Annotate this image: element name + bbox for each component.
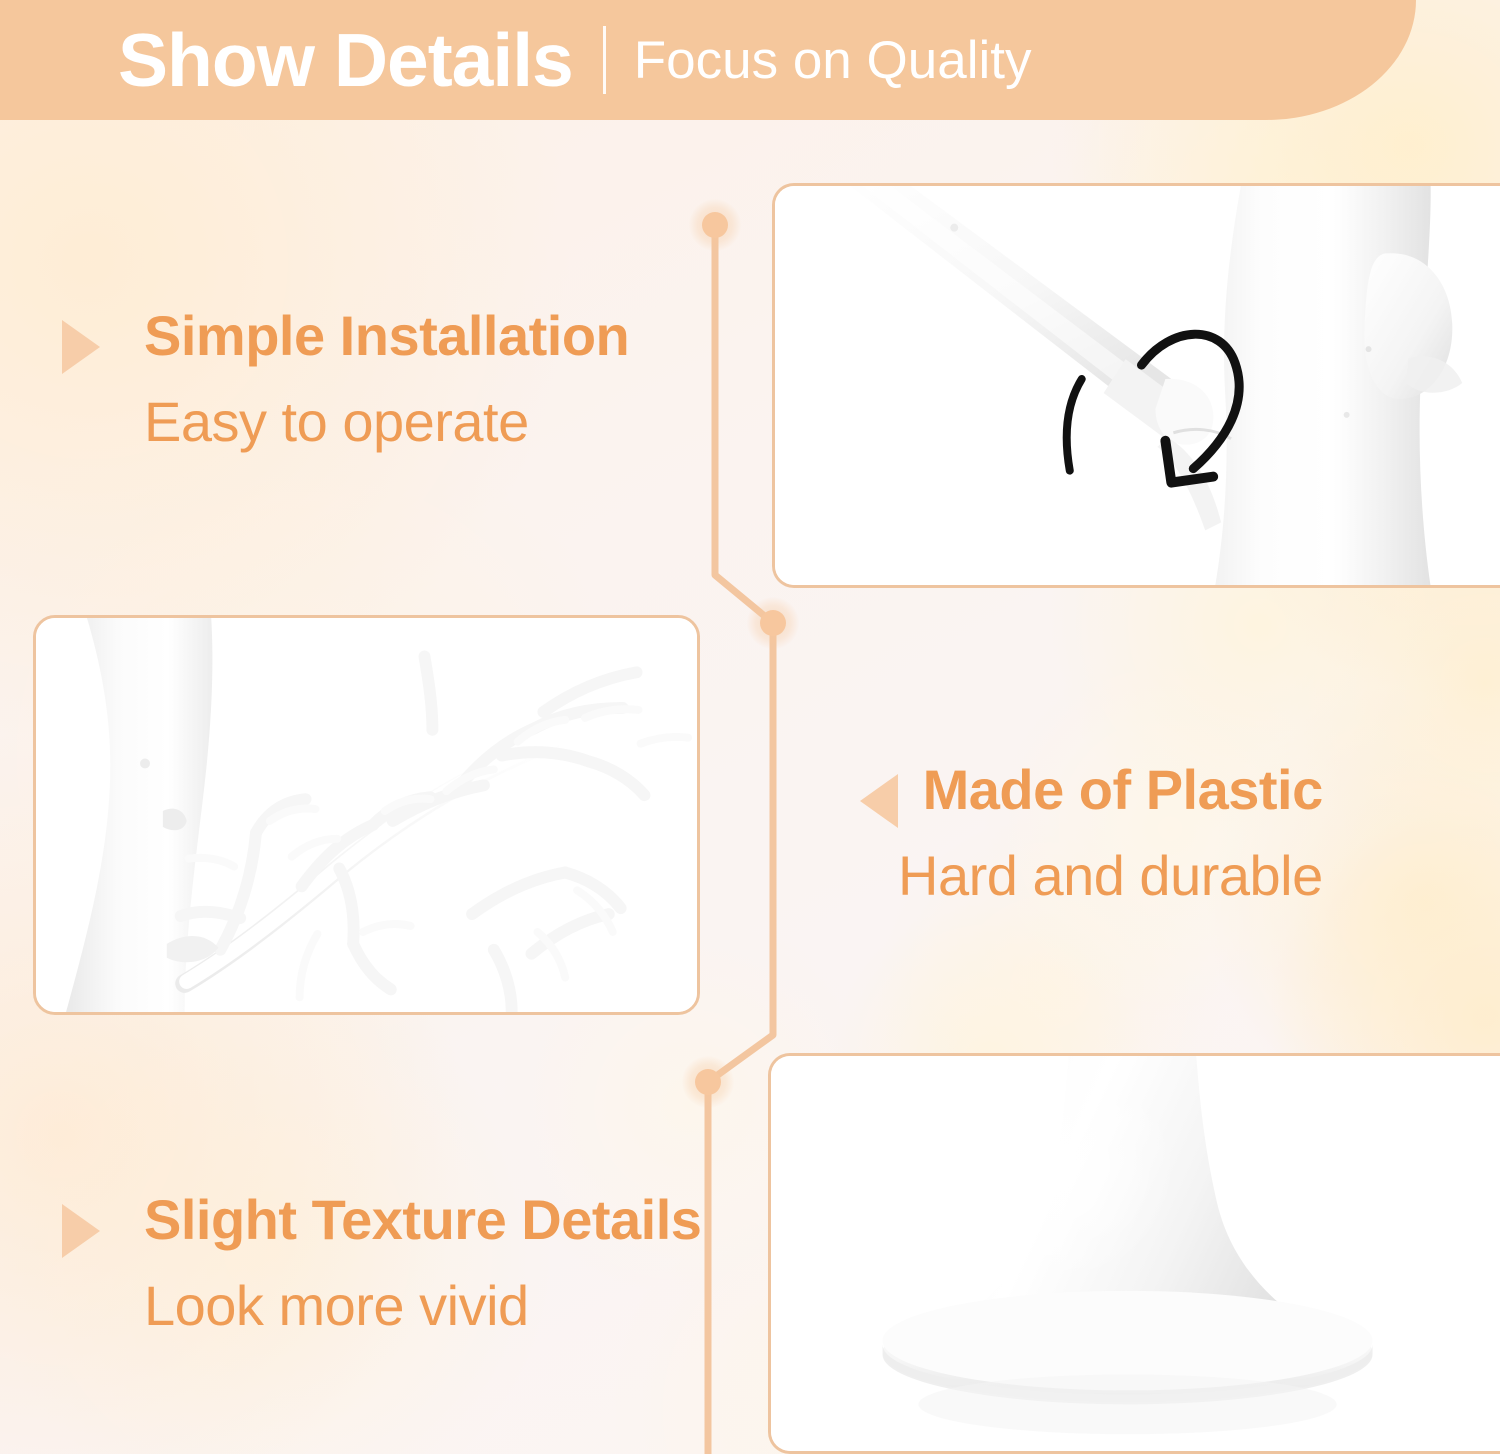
feature-line-1: Made of Plastic <box>923 762 1323 818</box>
feature-line-2: Easy to operate <box>144 394 529 450</box>
feature-text: Slight Texture Details Look more vivid <box>144 1192 701 1334</box>
infographic-page: Show Details Focus on Quality <box>0 0 1500 1454</box>
node-core <box>695 1069 721 1095</box>
feature-made-of-plastic: Made of Plastic Hard and durable <box>860 762 1367 904</box>
feature-simple-installation: Simple Installation Easy to operate <box>62 308 629 450</box>
feature-text: Simple Installation Easy to operate <box>144 308 629 450</box>
feature-line-1: Simple Installation <box>144 308 629 364</box>
header-subtitle: Focus on Quality <box>634 34 1032 87</box>
feature-line-2: Look more vivid <box>144 1278 529 1334</box>
feature-text: Made of Plastic Hard and durable <box>898 762 1323 904</box>
header-divider <box>603 26 606 94</box>
installation-photo <box>772 183 1500 588</box>
base-photo-image <box>771 1056 1500 1451</box>
triangle-right-icon <box>62 1204 100 1258</box>
triangle-left-icon <box>860 774 898 828</box>
installation-photo-image <box>775 186 1500 585</box>
feature-slight-texture-details: Slight Texture Details Look more vivid <box>62 1192 701 1334</box>
texture-photo <box>33 615 700 1015</box>
texture-photo-image <box>36 618 697 1012</box>
triangle-right-icon <box>62 320 100 374</box>
node-core <box>760 610 786 636</box>
node-core <box>702 212 728 238</box>
base-photo <box>768 1053 1500 1454</box>
feature-line-2: Hard and durable <box>898 848 1323 904</box>
feature-line-1: Slight Texture Details <box>144 1192 701 1248</box>
page-title: Show Details <box>118 23 573 98</box>
header-banner: Show Details Focus on Quality <box>0 0 1416 120</box>
